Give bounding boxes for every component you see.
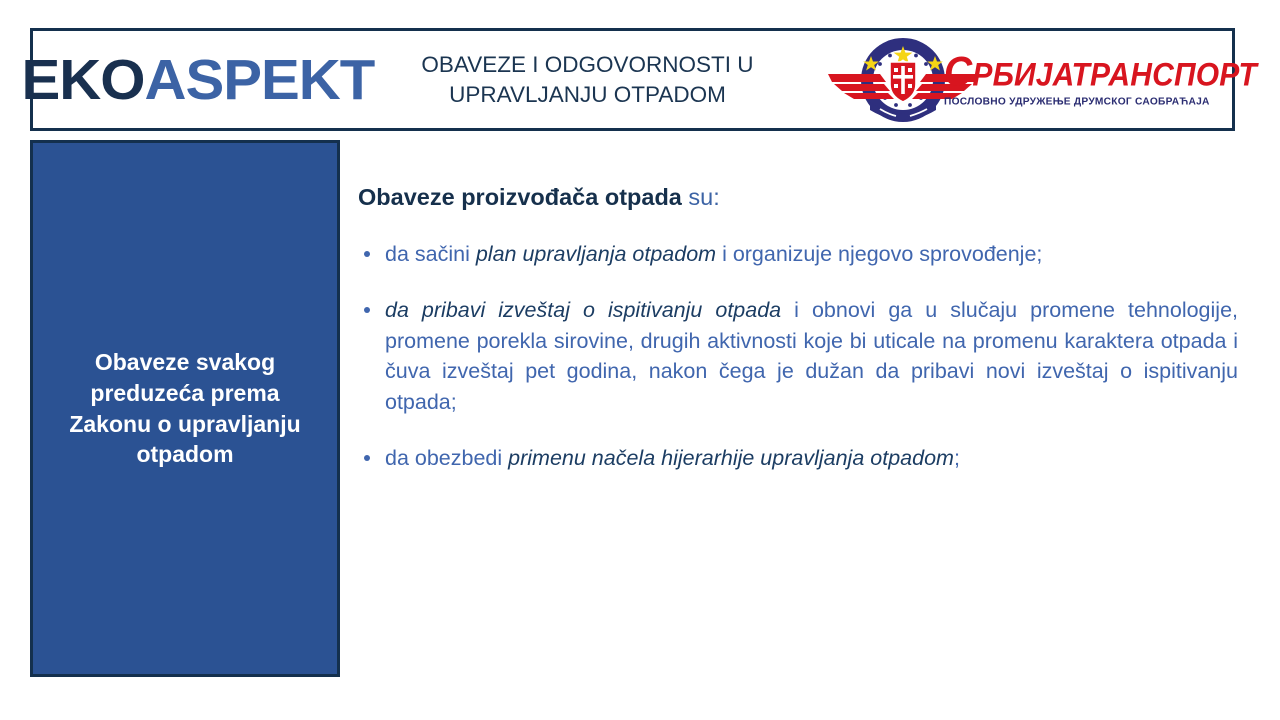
eko-aspekt-logo: EKOASPEKT: [33, 31, 363, 128]
slide-title: OBAVEZE I ODGOVORNOSTI U UPRAVLJANJU OTP…: [363, 31, 812, 128]
srbijatransport-name: СРБИЈАТРАНСПОРТ: [944, 50, 1224, 92]
srbijatransport-logo: СРБИЈАТРАНСПОРТ ПОСЛОВНО УДРУЖЕЊЕ ДРУМСК…: [812, 31, 1232, 128]
bullet-text-post: i organizuje njegovo sprovođenje;: [716, 242, 1042, 266]
list-item: da sačini plan upravljanja otpadom i org…: [358, 239, 1238, 270]
logo-word-eko: EKO: [22, 48, 145, 112]
obligations-list: da sačini plan upravljanja otpadom i org…: [358, 239, 1238, 474]
content-heading: Obaveze proizvođača otpada su:: [358, 182, 1238, 213]
list-item: da obezbedi primenu načela hijerarhije u…: [358, 443, 1238, 474]
section-title-panel: Obaveze svakog preduzeća prema Zakonu o …: [30, 140, 340, 677]
srbijatransport-name-rest: РБИЈАТРАНСПОРТ: [972, 57, 1257, 93]
bullet-text-italic: plan upravljanja otpadom: [476, 242, 716, 266]
content-heading-emphasis: Obaveze proizvođača otpada: [358, 184, 682, 210]
slide-header: EKOASPEKT OBAVEZE I ODGOVORNOSTI U UPRAV…: [30, 28, 1235, 131]
eko-aspekt-logo-text: EKOASPEKT: [22, 47, 375, 113]
bullet-text-post: ;: [954, 446, 960, 470]
logo-word-aspekt: ASPEKT: [145, 48, 375, 112]
bullet-text-pre: da sačini: [385, 242, 476, 266]
section-title-text: Obaveze svakog preduzeća prema Zakonu o …: [47, 347, 323, 469]
slide-content: Obaveze proizvođača otpada su: da sačini…: [358, 182, 1238, 474]
srbijatransport-subtitle: ПОСЛОВНО УДРУЖЕЊЕ ДРУМСКОГ САОБРАЋАЈА: [944, 97, 1224, 107]
bullet-text-italic: da pribavi izveštaj o ispitivanju otpada: [385, 298, 781, 322]
bullet-text-pre: da obezbedi: [385, 446, 508, 470]
srbijatransport-name-initial: С: [944, 48, 972, 94]
list-item: da pribavi izveštaj o ispitivanju otpada…: [358, 295, 1238, 417]
srbijatransport-wordmark: СРБИЈАТРАНСПОРТ ПОСЛОВНО УДРУЖЕЊЕ ДРУМСК…: [944, 52, 1224, 107]
content-heading-tail: su:: [682, 184, 720, 210]
bullet-text-italic: primenu načela hijerarhije upravljanja o…: [508, 446, 954, 470]
